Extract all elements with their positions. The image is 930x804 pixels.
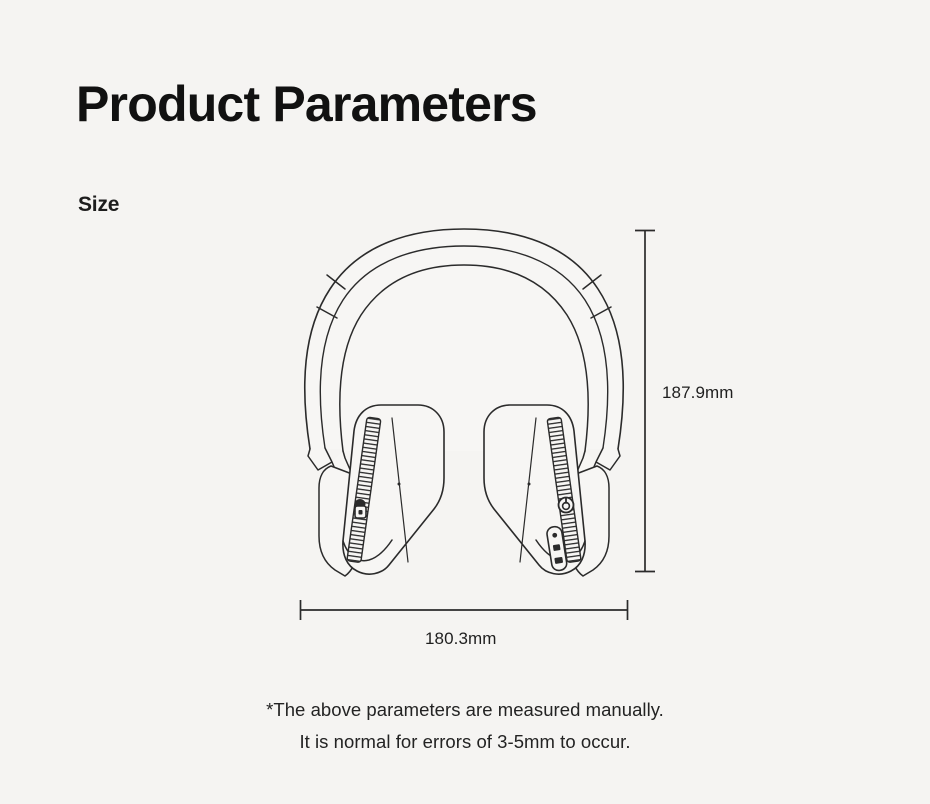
right-earcup-shell [569, 466, 609, 576]
left-earcup-shell [319, 466, 359, 576]
right-slider-bracket-lower [591, 307, 611, 318]
headband-outer-arc-inner-edge [320, 246, 607, 448]
product-parameters-page: Product Parameters Size [0, 0, 930, 804]
power-button-icon [559, 498, 574, 513]
right-earcup-strip-edge [520, 418, 536, 562]
right-earcup-mic-hole [528, 483, 531, 486]
left-yoke-arm-lower [332, 451, 352, 481]
width-dimension-label: 180.3mm [425, 629, 497, 649]
footnote-line-1: *The above parameters are measured manua… [0, 694, 930, 726]
control-button-top [552, 532, 557, 537]
right-yoke-arm [596, 448, 620, 470]
right-slider-bracket [583, 275, 601, 289]
right-earcup-bottom-curve [536, 540, 585, 561]
footnote-line-2: It is normal for errors of 3-5mm to occu… [0, 726, 930, 758]
left-earcup-strip-edge [392, 418, 408, 562]
left-earcup-bottom-curve [343, 540, 392, 561]
headband-inner-pad-arc [340, 265, 588, 451]
left-slider-bracket-lower [317, 307, 337, 318]
section-label-size: Size [78, 193, 119, 217]
control-button-bottom [554, 557, 563, 564]
footnote: *The above parameters are measured manua… [0, 694, 930, 758]
right-earcup-ribbed-strip [547, 417, 581, 563]
left-earcup-mic-hole [398, 483, 401, 486]
left-yoke-arm [308, 448, 332, 470]
height-dimension-label: 187.9mm [662, 383, 734, 403]
right-earcup-body [484, 405, 585, 574]
left-slider-bracket [327, 275, 345, 289]
control-buttons-bar [546, 526, 568, 572]
dimension-lines [300, 230, 655, 620]
left-earcup-body [343, 405, 444, 574]
usb-c-port-icon [355, 499, 367, 518]
right-yoke-arm-lower [576, 451, 596, 481]
headphones-outline [305, 229, 624, 576]
page-title: Product Parameters [76, 76, 537, 132]
left-earcup-ribbed-strip [347, 417, 381, 563]
control-button-mid [553, 544, 561, 551]
headband-outer-arc [305, 229, 624, 449]
